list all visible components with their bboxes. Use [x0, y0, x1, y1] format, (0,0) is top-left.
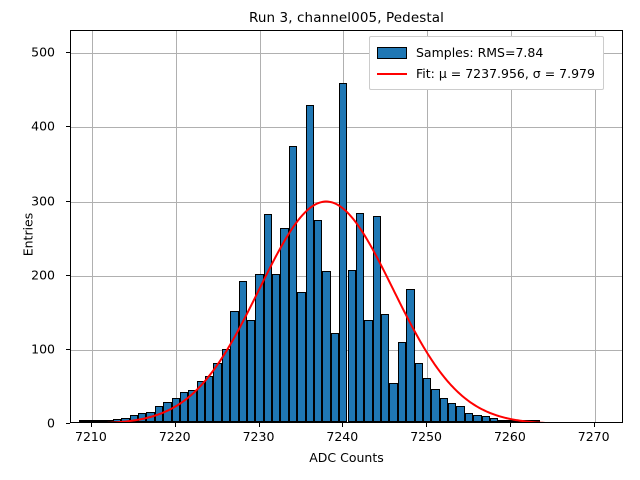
- x-tick-label: 7260: [494, 429, 526, 444]
- y-tick-mark: [66, 275, 70, 276]
- y-tick-mark: [66, 201, 70, 202]
- y-axis-label: Entries: [21, 135, 36, 335]
- x-tick-mark: [342, 423, 343, 427]
- legend-label-fit: Fit: μ = 7237.956, σ = 7.979: [416, 66, 595, 81]
- legend-line-icon: [377, 73, 407, 75]
- chart-title: Run 3, channel005, Pedestal: [70, 10, 623, 26]
- y-tick-label: 0: [47, 416, 55, 431]
- y-tick-mark: [66, 349, 70, 350]
- x-tick-mark: [594, 423, 595, 427]
- y-tick-label: 500: [31, 45, 55, 60]
- x-tick-label: 7210: [75, 429, 107, 444]
- x-tick-label: 7230: [243, 429, 275, 444]
- y-tick-label: 100: [31, 341, 55, 356]
- y-tick-mark: [66, 52, 70, 53]
- x-tick-mark: [175, 423, 176, 427]
- x-axis-label: ADC Counts: [70, 450, 623, 465]
- legend-item-samples: Samples: RMS=7.84: [377, 42, 595, 63]
- legend-label-samples: Samples: RMS=7.84: [416, 45, 543, 60]
- x-tick-mark: [426, 423, 427, 427]
- y-tick-mark: [66, 423, 70, 424]
- legend-patch-icon: [377, 47, 407, 59]
- x-tick-label: 7270: [578, 429, 610, 444]
- x-tick-mark: [91, 423, 92, 427]
- y-tick-mark: [66, 126, 70, 127]
- chart-legend: Samples: RMS=7.84 Fit: μ = 7237.956, σ =…: [369, 36, 604, 90]
- legend-item-fit: Fit: μ = 7237.956, σ = 7.979: [377, 63, 595, 84]
- x-tick-label: 7250: [410, 429, 442, 444]
- x-tick-mark: [510, 423, 511, 427]
- x-tick-mark: [259, 423, 260, 427]
- x-tick-label: 7240: [326, 429, 358, 444]
- x-tick-label: 7220: [159, 429, 191, 444]
- chart-figure: Run 3, channel005, Pedestal 721072207230…: [0, 0, 640, 480]
- y-tick-label: 400: [31, 119, 55, 134]
